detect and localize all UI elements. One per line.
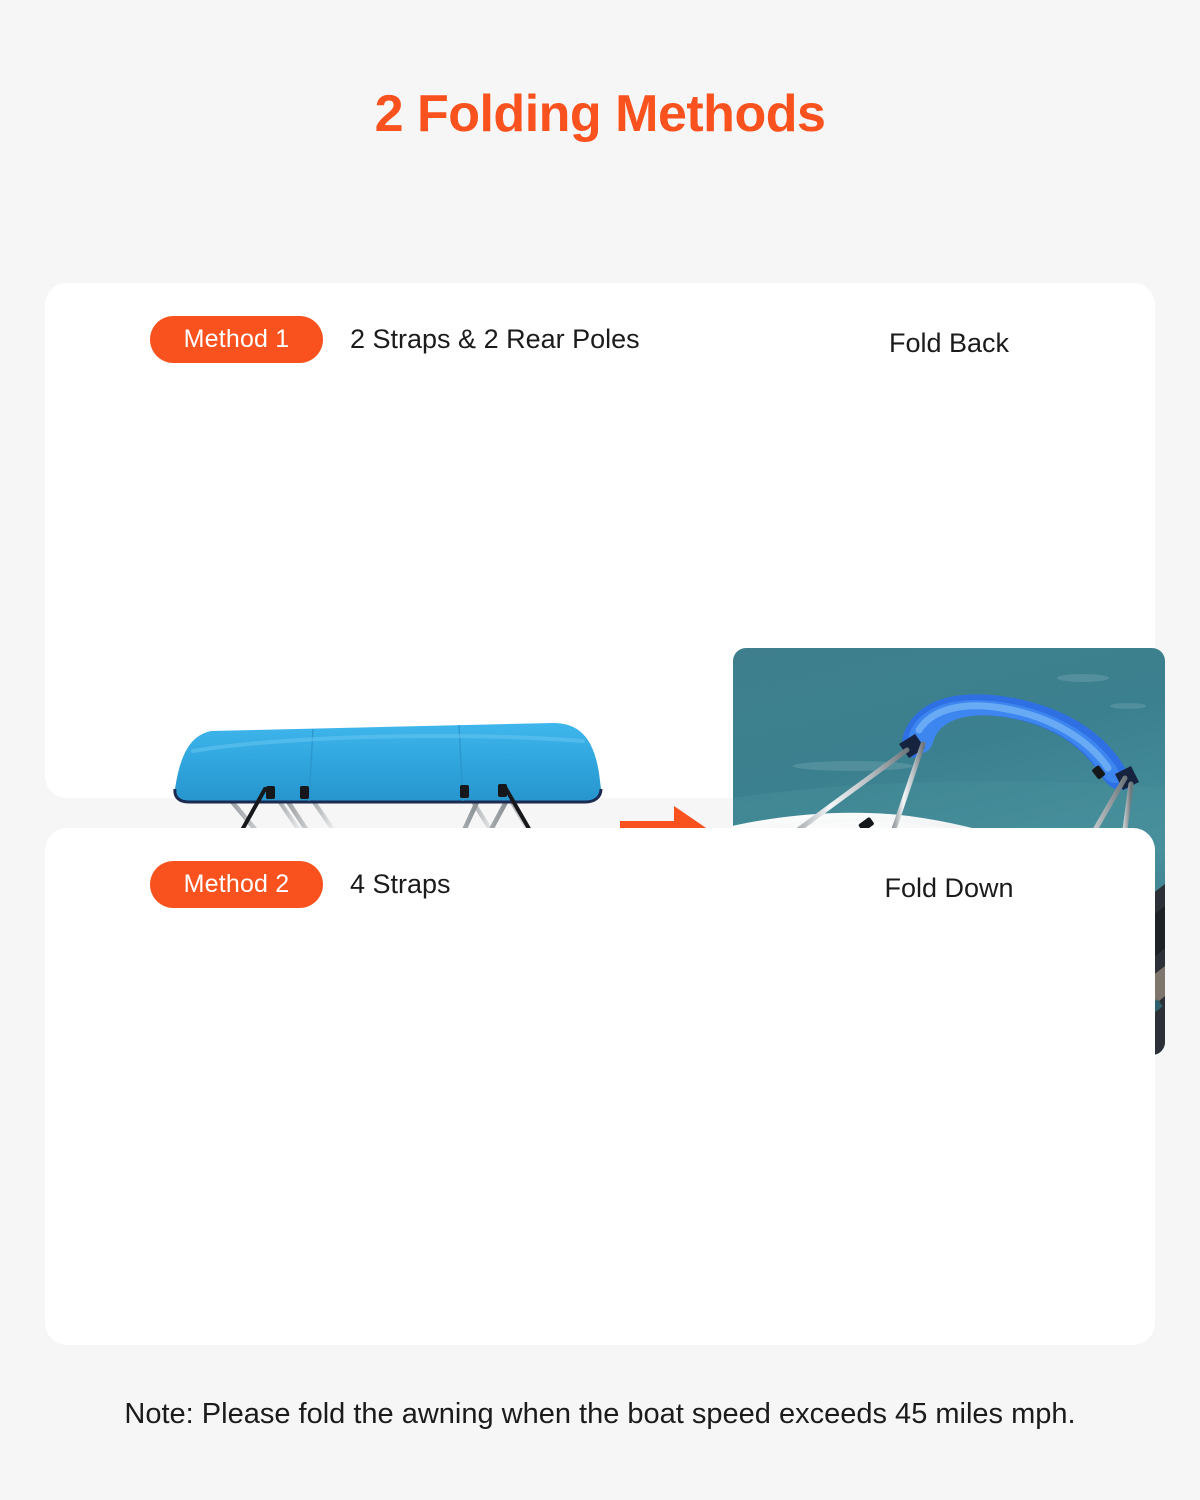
method-1-header: Method 1 2 Straps & 2 Rear Poles (150, 316, 640, 363)
method-2-description: 4 Straps (350, 869, 451, 900)
infographic-page: 2 Folding Methods Method 1 2 Straps & 2 … (0, 0, 1200, 1500)
method-1-description: 2 Straps & 2 Rear Poles (350, 324, 640, 355)
method-1-badge: Method 1 (150, 316, 323, 363)
method-2-badge: Method 2 (150, 861, 323, 908)
method-2-fold-label: Fold Down (733, 873, 1165, 904)
footer-note: Note: Please fold the awning when the bo… (0, 1398, 1200, 1431)
method-1-fold-label: Fold Back (733, 328, 1165, 359)
page-title: 2 Folding Methods (0, 84, 1200, 144)
method-2-header: Method 2 4 Straps (150, 861, 451, 908)
method-card-1: Method 1 2 Straps & 2 Rear Poles Fold Ba… (45, 283, 1155, 798)
method-card-2: Method 2 4 Straps Fold Down (45, 828, 1155, 1345)
